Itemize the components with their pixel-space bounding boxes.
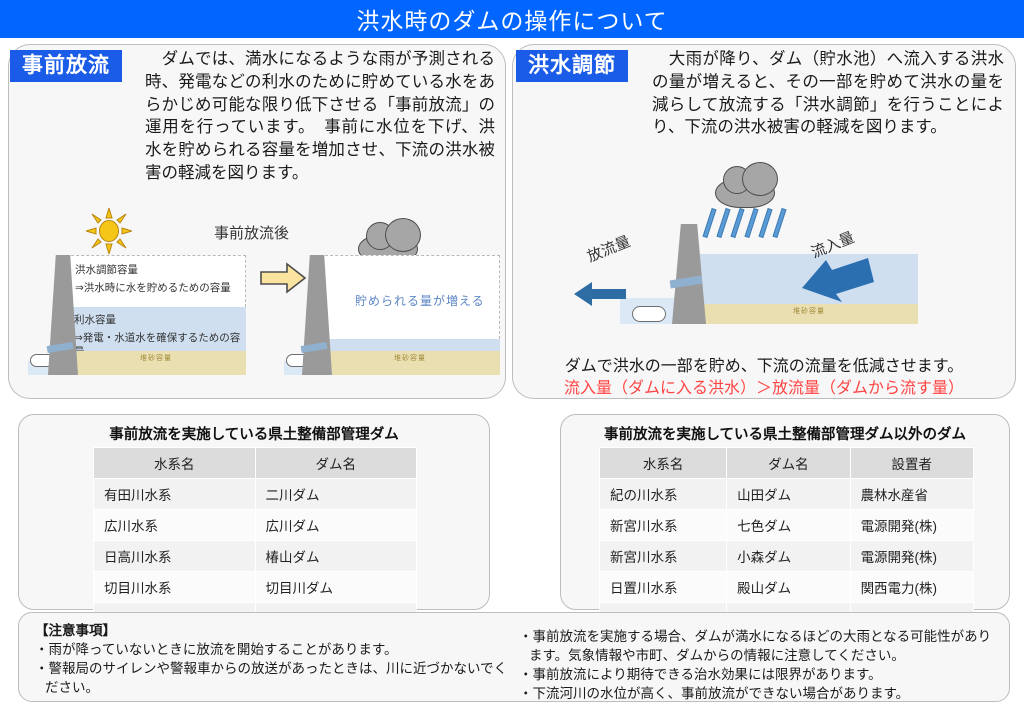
note-item: ・事前放流を実施する場合、ダムが満水になるほどの大雨となる可能性があります。気象… bbox=[519, 627, 1001, 665]
note-item: ・事前放流により期待できる治水効果には限界があります。 bbox=[519, 665, 1001, 684]
table-cell: 日置川水系 bbox=[600, 572, 727, 603]
badge-flood-control: 洪水調節 bbox=[516, 50, 628, 82]
page-header: 洪水時のダムの操作について bbox=[0, 0, 1024, 38]
note-item: ・雨が降っていないときに放流を開始することがあります。 bbox=[35, 640, 515, 659]
page-title: 洪水時のダムの操作について bbox=[356, 2, 667, 36]
flood-control-capacity-area: 洪水調節容量 ⇒洪水時に水を貯めるための容量 bbox=[66, 255, 246, 307]
table-row: 新宮川水系七色ダム電源開発(株) bbox=[600, 510, 974, 541]
table-cell: 電源開発(株) bbox=[850, 510, 973, 541]
notes-heading: 【注意事項】 bbox=[35, 621, 515, 640]
table-cell: 新宮川水系 bbox=[600, 510, 727, 541]
table-row: 新宮川水系小森ダム電源開発(株) bbox=[600, 541, 974, 572]
notes-right-column: ・事前放流を実施する場合、ダムが満水になるほどの大雨となる可能性があります。気象… bbox=[519, 627, 1001, 704]
sun-icon bbox=[86, 208, 132, 254]
notes-left-column: 【注意事項】 ・雨が降っていないときに放流を開始することがあります。・警報局のサ… bbox=[35, 621, 515, 698]
rain-cloud-icon bbox=[695, 158, 815, 238]
table-cell: 殿山ダム bbox=[727, 572, 850, 603]
table-cell: 切目川ダム bbox=[255, 572, 417, 603]
increased-storage-area: 貯められる量が増える bbox=[320, 255, 500, 339]
table-cell: 日高川水系 bbox=[94, 541, 256, 572]
silt-label-flood: 堆砂容量 bbox=[700, 306, 918, 316]
table-cell: 山田ダム bbox=[727, 479, 850, 510]
prefectural-dams-table: 水系名ダム名 有田川水系二川ダム広川水系広川ダム日高川水系椿山ダム切目川水系切目… bbox=[93, 447, 417, 634]
silt-label-after: 堆砂容量 bbox=[320, 353, 500, 363]
silt-label-before: 堆砂容量 bbox=[66, 353, 246, 363]
table-cell: 小森ダム bbox=[727, 541, 850, 572]
table-title-left: 事前放流を実施している県土整備部管理ダム bbox=[19, 423, 489, 444]
raindrop bbox=[730, 208, 744, 238]
outflow-label: 放流量 bbox=[584, 230, 634, 266]
table-cell: 広川ダム bbox=[255, 510, 417, 541]
table-cell: 有田川水系 bbox=[94, 479, 256, 510]
cloud-shape bbox=[715, 178, 775, 208]
table-row: 切目川水系切目川ダム bbox=[94, 572, 417, 603]
note-item: ・警報局のサイレンや警報車からの放送があったときは、川に近づかないでください。 bbox=[35, 659, 515, 697]
table-row: 日高川水系椿山ダム bbox=[94, 541, 417, 572]
silt-capacity-area-after: 堆砂容量 bbox=[320, 351, 500, 375]
dam-wall-flood bbox=[672, 224, 706, 324]
dam-after-prerelease: 貯められる量が増える 堆砂容量 bbox=[284, 255, 500, 375]
raindrop bbox=[716, 208, 730, 238]
water-use-label: 利水容量 bbox=[74, 313, 116, 327]
table-row: 有田川水系二川ダム bbox=[94, 479, 417, 510]
table-header-row: 水系名ダム名 bbox=[94, 448, 417, 479]
raindrop bbox=[772, 208, 786, 238]
note-item: ・下流河川の水位が高く、事前放流ができない場合があります。 bbox=[519, 684, 1001, 703]
flood-control-caption-2: 流入量（ダムに入る洪水）＞放流量（ダムから流す量） bbox=[512, 374, 1016, 398]
column-header: ダム名 bbox=[255, 448, 417, 479]
column-header: ダム名 bbox=[727, 448, 850, 479]
other-dams-table: 水系名ダム名設置者 紀の川水系山田ダム農林水産省新宮川水系七色ダム電源開発(株)… bbox=[599, 447, 974, 634]
foam-flood bbox=[632, 306, 666, 322]
silt-capacity-area-before: 堆砂容量 bbox=[66, 351, 246, 375]
table-cell: 椿山ダム bbox=[255, 541, 417, 572]
flood-capacity-label: 洪水調節容量 bbox=[75, 263, 138, 277]
increase-storage-label: 貯められる量が増える bbox=[355, 292, 485, 309]
table-title-right: 事前放流を実施している県土整備部管理ダム以外のダム bbox=[561, 423, 1009, 444]
table-cell: 電源開発(株) bbox=[850, 541, 973, 572]
table-cell: 農林水産省 bbox=[850, 479, 973, 510]
table-panel-prefectural-dams: 事前放流を実施している県土整備部管理ダム 水系名ダム名 有田川水系二川ダム広川水… bbox=[18, 414, 490, 610]
left-arrow-icon bbox=[574, 280, 626, 308]
table-header-row: 水系名ダム名設置者 bbox=[600, 448, 974, 479]
flood-control-description: 大雨が降り、ダム（貯水池）へ流入する洪水の量が増えると、その一部を貯めて洪水の量… bbox=[652, 48, 1004, 139]
pre-release-description: ダムでは、満水になるような雨が予測される時、発電などの利水のために貯めている水を… bbox=[145, 48, 495, 185]
pre-release-diagram: 事前放流後 洪水調節容量 ⇒洪水時に水を貯めるための容量 利水容量 ⇒発電・水道… bbox=[14, 200, 500, 375]
table-row: 紀の川水系山田ダム農林水産省 bbox=[600, 479, 974, 510]
column-header: 水系名 bbox=[94, 448, 256, 479]
table-cell: 新宮川水系 bbox=[600, 541, 727, 572]
after-prerelease-label: 事前放流後 bbox=[214, 222, 289, 243]
table-row: 広川水系広川ダム bbox=[94, 510, 417, 541]
badge-pre-release: 事前放流 bbox=[10, 50, 122, 82]
table-cell: 切目川水系 bbox=[94, 572, 256, 603]
notes-panel: 【注意事項】 ・雨が降っていないときに放流を開始することがあります。・警報局のサ… bbox=[18, 612, 1010, 702]
flood-control-diagram: 堆砂容量 放流量 流入量 bbox=[520, 158, 1010, 348]
table-panel-other-dams: 事前放流を実施している県土整備部管理ダム以外のダム 水系名ダム名設置者 紀の川水… bbox=[560, 414, 1010, 610]
left-arrow-icon bbox=[802, 258, 874, 302]
raindrop bbox=[758, 208, 772, 238]
column-header: 水系名 bbox=[600, 448, 727, 479]
table-cell: 二川ダム bbox=[255, 479, 417, 510]
table-cell: 広川水系 bbox=[94, 510, 256, 541]
raindrop bbox=[744, 208, 758, 238]
silt-capacity-area-flood: 堆砂容量 bbox=[700, 304, 918, 324]
infographic-page: 洪水時のダムの操作について 事前放流 ダムでは、満水になるような雨が予測される時… bbox=[0, 0, 1024, 709]
table-row: 日置川水系殿山ダム関西電力(株) bbox=[600, 572, 974, 603]
raindrop bbox=[702, 208, 716, 238]
table-cell: 関西電力(株) bbox=[850, 572, 973, 603]
flood-capacity-desc: ⇒洪水時に水を貯めるための容量 bbox=[75, 281, 231, 295]
table-cell: 紀の川水系 bbox=[600, 479, 727, 510]
remaining-water-area bbox=[320, 339, 500, 351]
column-header: 設置者 bbox=[850, 448, 973, 479]
table-cell: 七色ダム bbox=[727, 510, 850, 541]
water-use-capacity-area: 利水容量 ⇒発電・水道水を確保するための容量 bbox=[66, 307, 246, 351]
flood-control-caption-1: ダムで洪水の一部を貯め、下流の流量を低減させます。 bbox=[512, 352, 1016, 376]
dam-before-prerelease: 洪水調節容量 ⇒洪水時に水を貯めるための容量 利水容量 ⇒発電・水道水を確保する… bbox=[28, 255, 248, 375]
